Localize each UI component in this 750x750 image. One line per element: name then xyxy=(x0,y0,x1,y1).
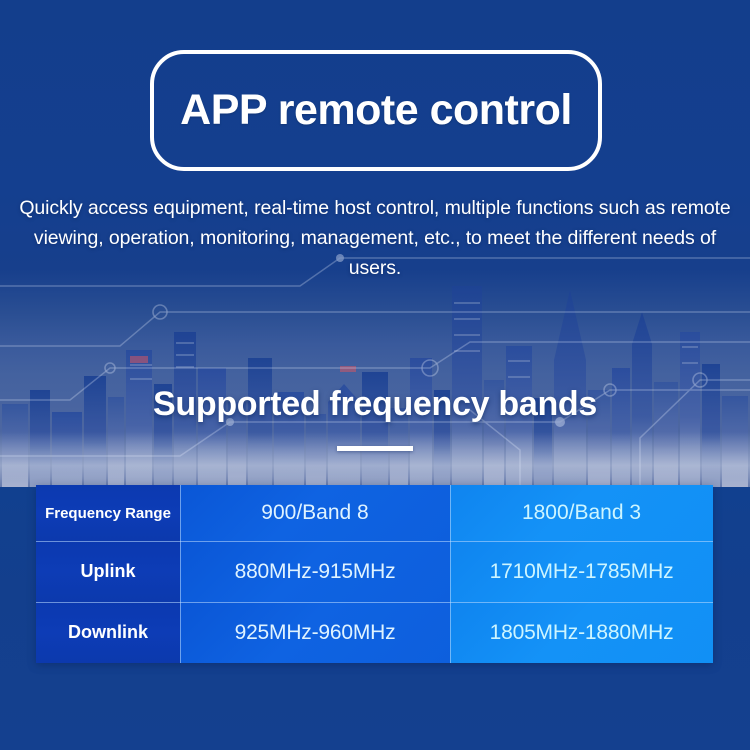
band-900-value-text: 925MHz-960MHz xyxy=(235,621,396,645)
heading-underline xyxy=(337,446,413,451)
table-cell-row-label: Frequency Range xyxy=(36,485,180,541)
table-cell-band-1800: 1800/Band 3 xyxy=(450,485,713,541)
table-cell-band-1800: 1710MHz-1785MHz xyxy=(450,541,713,602)
product-banner: APP remote control Quickly access equipm… xyxy=(0,0,750,750)
city-skyline-image xyxy=(0,272,750,487)
band-900-header-text: 900/Band 8 xyxy=(261,501,368,525)
row-label-text: Uplink xyxy=(80,561,135,582)
band-900-value-text: 880MHz-915MHz xyxy=(235,560,396,584)
page-title: APP remote control xyxy=(180,86,572,135)
table-row: Uplink 880MHz-915MHz 1710MHz-1785MHz xyxy=(36,541,713,602)
band-1800-header-text: 1800/Band 3 xyxy=(522,501,641,525)
hero-description: Quickly access equipment, real-time host… xyxy=(0,193,750,283)
section-heading: Supported frequency bands xyxy=(0,385,750,424)
table-cell-row-label: Uplink xyxy=(36,541,180,602)
hero-title-box: APP remote control xyxy=(150,50,602,171)
table-cell-row-label: Downlink xyxy=(36,602,180,663)
row-label-text: Downlink xyxy=(68,622,148,643)
table-cell-band-900: 900/Band 8 xyxy=(180,485,450,541)
band-1800-value-text: 1710MHz-1785MHz xyxy=(490,560,674,584)
band-1800-value-text: 1805MHz-1880MHz xyxy=(490,621,674,645)
table-cell-band-900: 925MHz-960MHz xyxy=(180,602,450,663)
table-row: Frequency Range 900/Band 8 1800/Band 3 xyxy=(36,485,713,541)
row-label-text: Frequency Range xyxy=(45,505,171,522)
frequency-bands-table: Frequency Range 900/Band 8 1800/Band 3 U… xyxy=(36,485,713,663)
table-cell-band-900: 880MHz-915MHz xyxy=(180,541,450,602)
table-row: Downlink 925MHz-960MHz 1805MHz-1880MHz xyxy=(36,602,713,663)
table-cell-band-1800: 1805MHz-1880MHz xyxy=(450,602,713,663)
